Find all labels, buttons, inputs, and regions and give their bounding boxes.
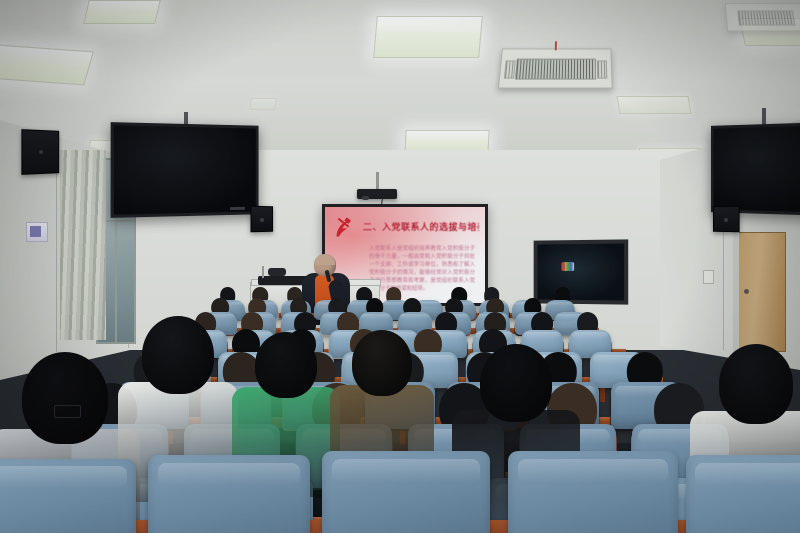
classroom-door[interactable] <box>738 232 786 352</box>
window-curtain[interactable] <box>60 150 106 340</box>
audience-head <box>352 330 412 396</box>
lecture-chair-foreground[interactable] <box>148 455 310 533</box>
lecture-chair-foreground[interactable] <box>0 459 136 533</box>
audience-head <box>22 352 108 444</box>
side-display-logo <box>561 262 574 271</box>
wall-mounted-tv[interactable] <box>111 122 259 218</box>
slide-title: 二、入党联系人的选拔与培养 <box>363 220 479 233</box>
door-frame <box>733 229 739 355</box>
door-knob[interactable] <box>744 289 749 294</box>
ac-side-vent <box>597 60 607 78</box>
projector-lens <box>362 196 369 200</box>
wall-speaker <box>21 129 59 175</box>
ceiling-ac-unit <box>498 49 613 89</box>
ceiling-projector <box>357 189 397 199</box>
ac-side-vent <box>504 60 515 78</box>
projector-mount-pole <box>376 172 379 190</box>
ac-grille <box>515 59 595 79</box>
wall-seam <box>56 142 57 352</box>
lecture-chair-foreground[interactable] <box>686 455 800 533</box>
tv-screen <box>714 125 800 213</box>
speaker-cone <box>724 218 728 222</box>
audience-head <box>719 344 793 424</box>
ceiling-ac-unit <box>725 3 800 31</box>
ceiling-light-panel <box>373 16 483 58</box>
ac-grille <box>737 11 795 26</box>
light-switch-plate[interactable] <box>703 270 714 284</box>
lecture-chair-foreground[interactable] <box>322 451 490 533</box>
speaker-cone <box>39 150 43 154</box>
lecture-chair-foreground[interactable] <box>508 451 678 533</box>
ceiling-light-panel <box>0 45 94 86</box>
tv-brand-mark <box>230 207 245 210</box>
wall-speaker <box>713 206 740 233</box>
speaker-cone <box>260 218 264 222</box>
wall-mounted-tv[interactable] <box>711 122 800 216</box>
cpc-hammer-sickle-emblem <box>333 216 357 240</box>
ceiling-light-panel <box>616 96 691 114</box>
lecture-hall-screenshot: 二、入党联系人的选拔与培养 入党联系人是党组织培养教育入党积极分子的骨干力量，一… <box>0 0 800 533</box>
audience-head <box>480 344 552 422</box>
eyeglasses <box>54 405 82 418</box>
ceiling-light-panel <box>83 0 161 24</box>
audience-head <box>142 316 214 394</box>
podium-equipment-small <box>268 268 286 276</box>
ceiling-light-panel <box>249 98 277 110</box>
wall-placard <box>26 222 48 242</box>
audience-head <box>255 332 317 398</box>
tv-screen <box>114 125 256 214</box>
podium-mic-stand <box>262 266 264 278</box>
ac-pipe <box>554 41 556 50</box>
wall-speaker <box>250 206 273 233</box>
slide-body-text: 入党联系人是党组织培养教育入党积极分子的骨干力量，一般由党和入党积极分子同处一个… <box>369 245 475 293</box>
